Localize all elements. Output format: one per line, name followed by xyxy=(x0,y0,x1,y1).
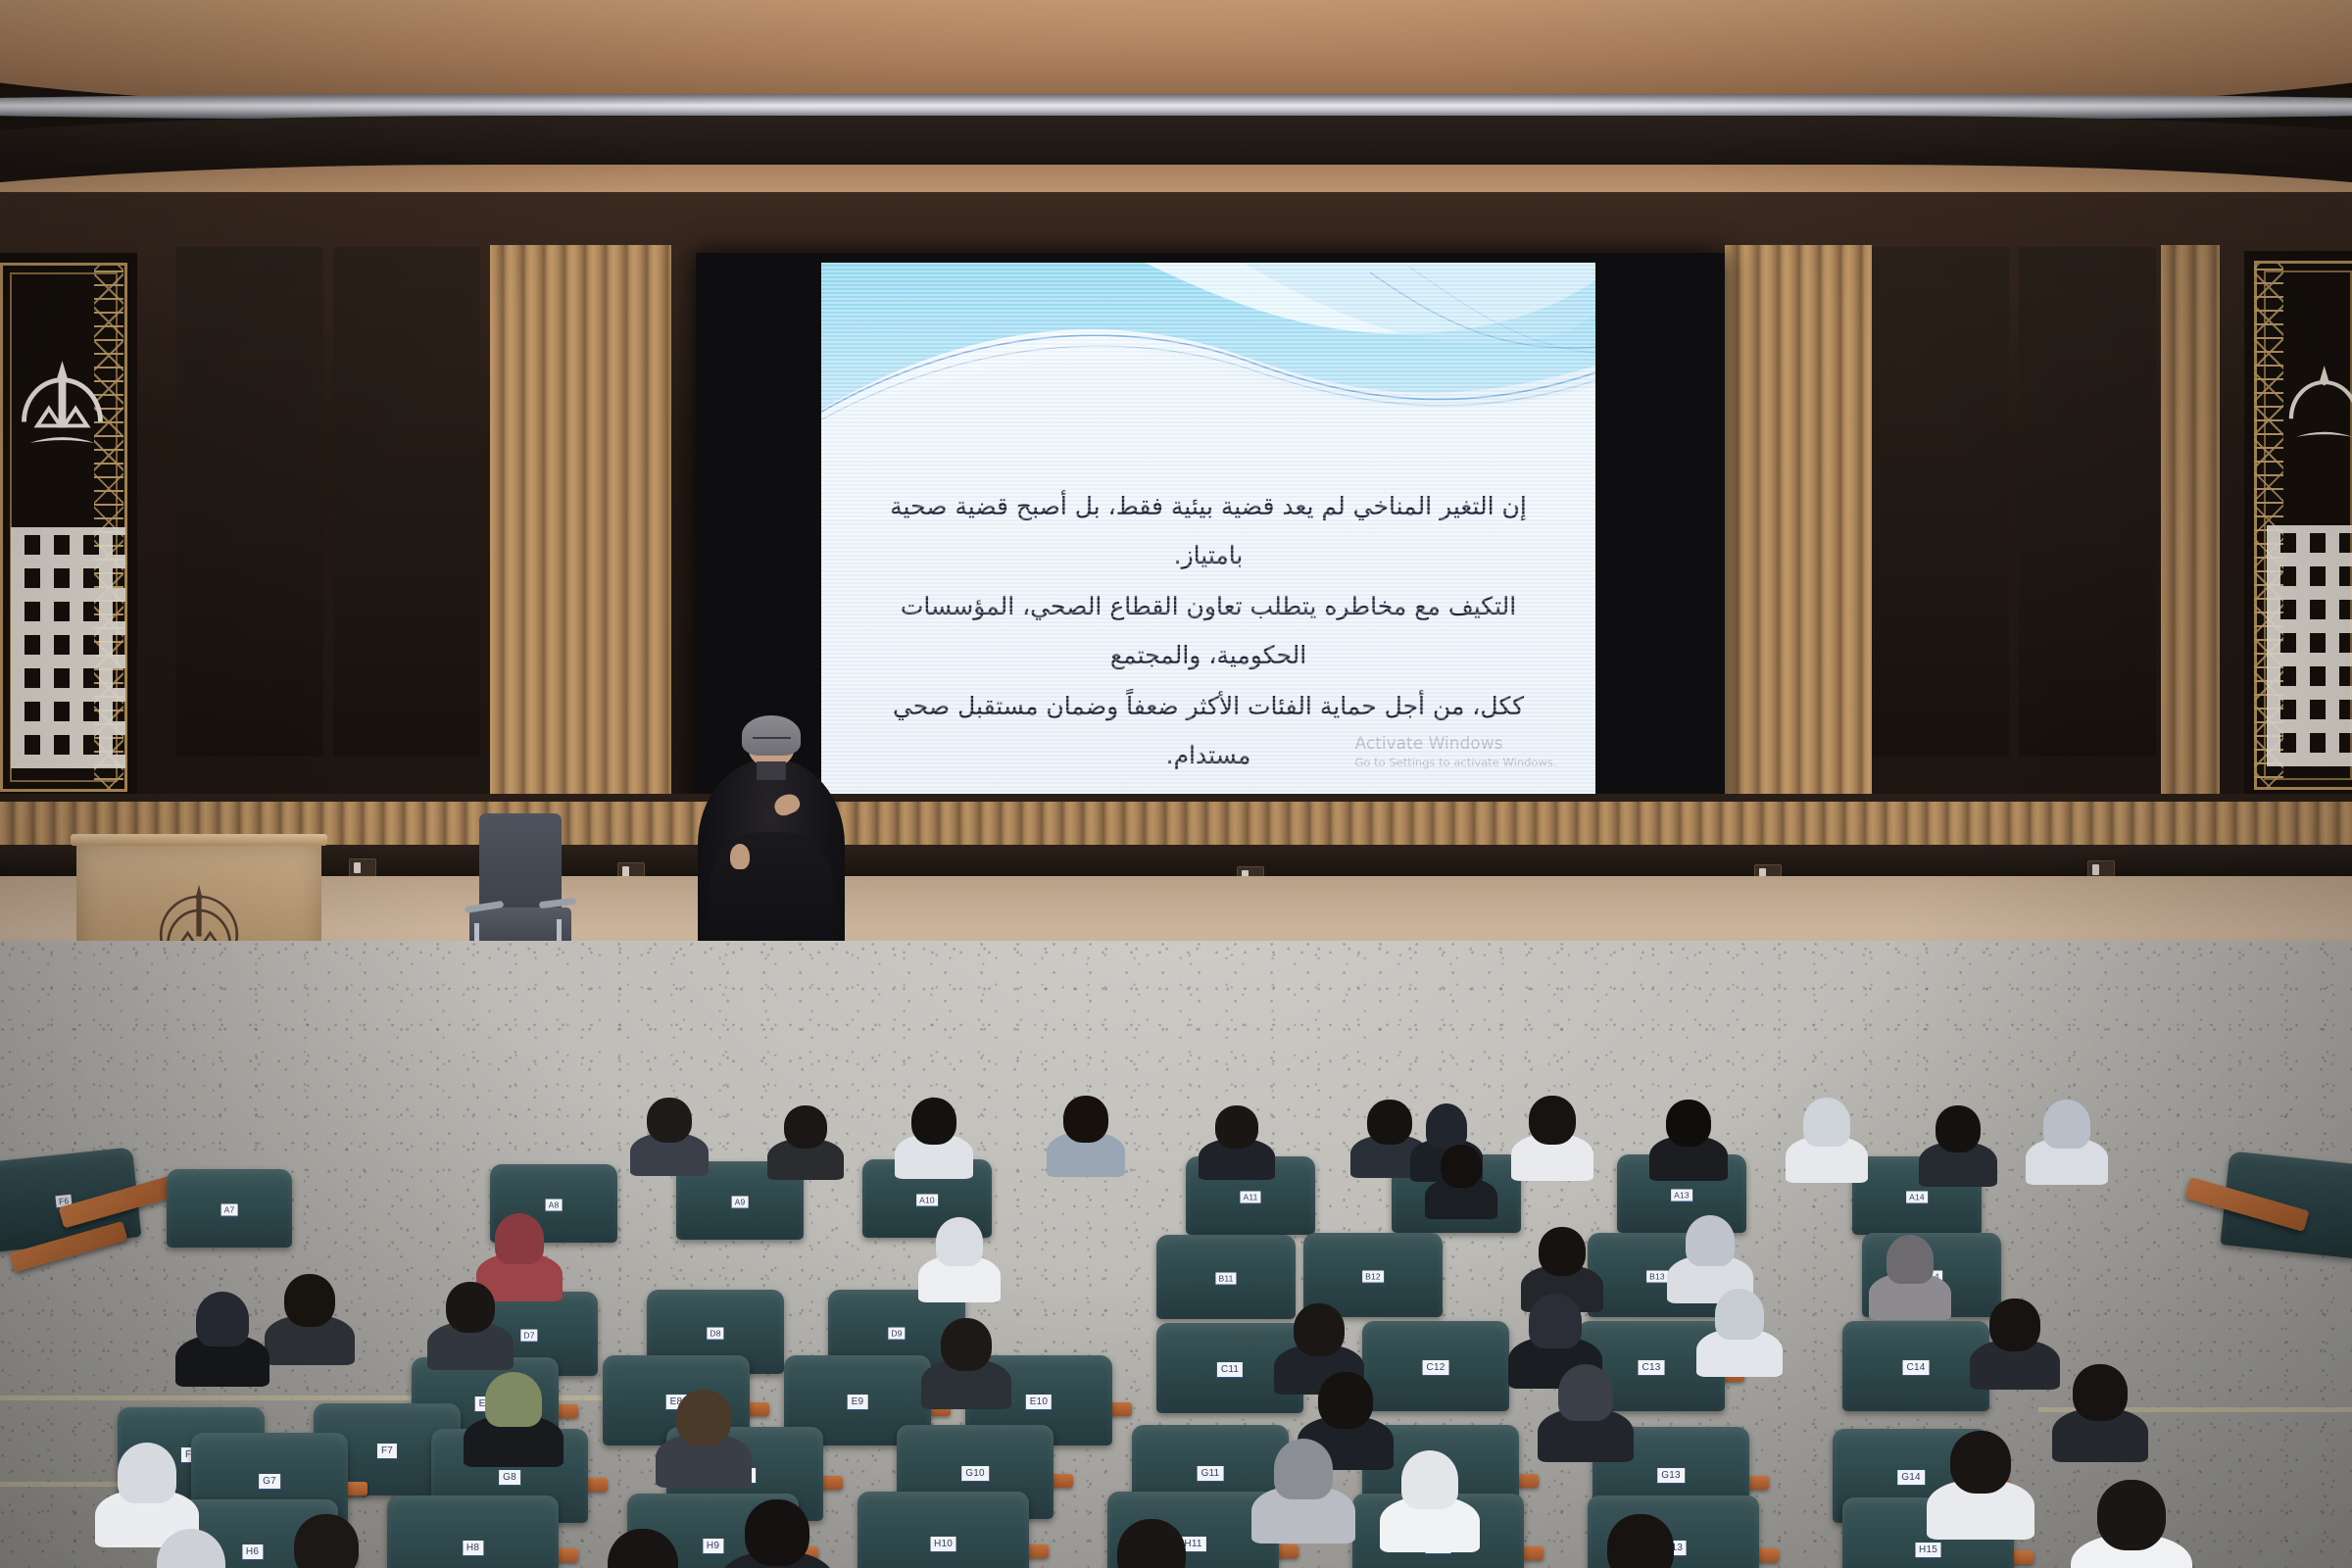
wall-panel-dark-left-a xyxy=(176,247,323,757)
audience-member xyxy=(294,1514,359,1568)
speaker-hijab xyxy=(742,715,801,756)
kufic-calligraphy-left xyxy=(11,527,125,768)
audience-member xyxy=(118,1443,176,1503)
kufic-calligraphy-right xyxy=(2267,525,2352,766)
audience-member-hijab xyxy=(157,1529,225,1568)
seat-tag: E9 xyxy=(848,1395,868,1410)
audience-member-hijab xyxy=(1558,1364,1613,1421)
watermark-subtitle: Go to Settings to activate Windows. xyxy=(1355,756,1557,770)
audience-member xyxy=(1274,1439,1333,1499)
audience-member-hijab xyxy=(1426,1103,1467,1149)
wall-socket-1[interactable] xyxy=(349,858,376,878)
audience-member-head xyxy=(676,1390,731,1446)
seat-tag: B13 xyxy=(1646,1270,1668,1283)
audience-member-head xyxy=(911,1098,956,1145)
ceiling xyxy=(0,0,2352,196)
speaker-hand-lower xyxy=(730,844,750,869)
seat-tag: A11 xyxy=(1240,1191,1260,1203)
seat-tag: F7 xyxy=(377,1444,397,1459)
audience-member xyxy=(1803,1098,1850,1147)
audience-member-hijab xyxy=(495,1213,544,1264)
seat-tag: A9 xyxy=(732,1196,749,1208)
audience-member-head xyxy=(745,1499,809,1566)
audience-member xyxy=(2097,1480,2166,1550)
audience-member-head xyxy=(1294,1303,1345,1356)
audience-member-hijab xyxy=(1529,1294,1582,1348)
seat-backrest xyxy=(387,1495,559,1568)
seat-tag: G11 xyxy=(1198,1466,1224,1482)
audience-member xyxy=(1607,1514,1674,1568)
seat-tag: C13 xyxy=(1639,1360,1665,1376)
ceiling-wood-band-1 xyxy=(0,0,2352,108)
audience-member-hijab xyxy=(1686,1215,1735,1266)
wall-panel-dark-left-b xyxy=(333,247,480,757)
slide-wave-graphic xyxy=(821,263,1595,449)
audience-member-head xyxy=(1539,1227,1586,1276)
audience-member-hijab xyxy=(196,1292,249,1347)
audience-member-cap xyxy=(485,1372,542,1427)
audience-member-head xyxy=(1367,1100,1412,1145)
audience-member xyxy=(745,1499,809,1566)
seat-tag: D9 xyxy=(888,1327,905,1340)
audience-member xyxy=(936,1217,983,1266)
audience-member-hijab xyxy=(1803,1098,1850,1147)
seat-tag: G10 xyxy=(961,1466,989,1482)
projection-screen: إن التغير المناخي لم يعد قضية بيئية فقط،… xyxy=(696,253,1725,817)
slide-line-2: التكيف مع مخاطره يتطلب تعاون القطاع الصح… xyxy=(875,582,1541,680)
audience-member xyxy=(1686,1215,1735,1266)
audience-member xyxy=(1367,1100,1412,1145)
seat-tag: H6 xyxy=(242,1544,263,1560)
audience-member-head xyxy=(1989,1298,2040,1351)
seat-tag: G13 xyxy=(1657,1468,1685,1484)
seat-tag: G14 xyxy=(1897,1470,1925,1486)
seat-tag: G7 xyxy=(259,1474,280,1490)
audience-member xyxy=(941,1318,992,1371)
watermark-title: Activate Windows xyxy=(1355,735,1557,755)
seat-C14[interactable]: C14 xyxy=(1842,1321,1989,1411)
audience-member-hijab xyxy=(1274,1439,1333,1499)
audience-member-head xyxy=(1117,1519,1186,1568)
audience-member-head xyxy=(941,1318,992,1371)
audience-member xyxy=(284,1274,335,1327)
wall-calligraphy-panel-left xyxy=(0,253,137,802)
audience-member xyxy=(157,1529,225,1568)
audience-member xyxy=(1558,1364,1613,1421)
audience-member-head xyxy=(2073,1364,2128,1421)
audience-member-hijab xyxy=(936,1217,983,1266)
audience-member xyxy=(485,1372,542,1427)
audience-member xyxy=(1117,1519,1186,1568)
audience-member-head xyxy=(1607,1514,1674,1568)
windows-activation-watermark: Activate Windows Go to Settings to activ… xyxy=(1355,735,1557,770)
seat-tag: E10 xyxy=(1026,1395,1052,1410)
audience-member-head xyxy=(1318,1372,1373,1429)
audience-member-head xyxy=(1441,1145,1482,1188)
seat-H8[interactable]: H8 xyxy=(387,1495,559,1568)
audience-member xyxy=(1426,1103,1467,1149)
audience-member xyxy=(1989,1298,2040,1351)
audience-member-head xyxy=(284,1274,335,1327)
audience-member-head xyxy=(608,1529,678,1568)
seat-tag: C11 xyxy=(1217,1362,1243,1378)
audience-member xyxy=(1666,1100,1711,1147)
seat-tag: B11 xyxy=(1215,1272,1236,1285)
audience-member-head xyxy=(647,1098,692,1143)
seat-tag: D8 xyxy=(707,1327,723,1340)
seat-H10[interactable]: H10 xyxy=(857,1492,1029,1568)
screen-bezel: إن التغير المناخي لم يعد قضية بيئية فقط،… xyxy=(696,253,1725,817)
audience-member-head xyxy=(1529,1096,1576,1145)
audience-member xyxy=(1063,1096,1108,1143)
university-emblem-left xyxy=(5,286,120,539)
audience-member-hijab xyxy=(1715,1289,1764,1340)
seat-tag: H9 xyxy=(703,1539,723,1554)
speaker-neck xyxy=(757,761,786,780)
audience-member-head xyxy=(1215,1105,1258,1149)
audience-member xyxy=(911,1098,956,1145)
audience-member xyxy=(784,1105,827,1149)
seat-B11[interactable]: B11 xyxy=(1156,1235,1296,1319)
university-emblem-right xyxy=(2275,284,2352,537)
wood-slat-column-right xyxy=(1725,245,1872,794)
audience-member-head xyxy=(294,1514,359,1568)
slide-line-1: إن التغير المناخي لم يعد قضية بيئية فقط،… xyxy=(875,482,1541,580)
audience-member-hijab xyxy=(1401,1450,1458,1509)
audience-member-head xyxy=(1666,1100,1711,1147)
seat-A7[interactable]: A7 xyxy=(167,1169,292,1248)
audience-member xyxy=(1441,1145,1482,1188)
seat-tag: A7 xyxy=(221,1203,238,1216)
wall-calligraphy-panel-right xyxy=(2244,251,2352,800)
seat-tag: H15 xyxy=(1915,1543,1941,1558)
presentation-slide: إن التغير المناخي لم يعد قضية بيئية فقط،… xyxy=(821,263,1595,811)
auditorium-photo: إن التغير المناخي لم يعد قضية بيئية فقط،… xyxy=(0,0,2352,1568)
audience-member xyxy=(1539,1227,1586,1276)
audience-member-head xyxy=(2097,1480,2166,1550)
wall-panel-dark-right-a xyxy=(1862,247,2009,757)
audience-member-head xyxy=(1063,1096,1108,1143)
audience-member xyxy=(1529,1294,1582,1348)
audience-member xyxy=(1529,1096,1576,1145)
audience-member-head xyxy=(1950,1431,2011,1494)
podium-top-surface xyxy=(71,834,327,846)
audience-member-head xyxy=(446,1282,495,1333)
audience-member xyxy=(1294,1303,1345,1356)
audience-member xyxy=(2073,1364,2128,1421)
audience-member xyxy=(647,1098,692,1143)
seat-tag: D7 xyxy=(520,1329,537,1342)
audience-member-hijab xyxy=(118,1443,176,1503)
seat-tag: B12 xyxy=(1362,1270,1384,1283)
seat-tag: C14 xyxy=(1903,1360,1930,1376)
audience-member xyxy=(608,1529,678,1568)
audience-member xyxy=(446,1282,495,1333)
audience-member xyxy=(1886,1235,1934,1284)
seat-tag: A8 xyxy=(546,1199,563,1211)
wood-slat-column-left xyxy=(490,245,671,794)
wood-slat-column-far-right xyxy=(2161,245,2220,794)
audience-member-hijab xyxy=(1886,1235,1934,1284)
seat-tag: H8 xyxy=(463,1541,483,1556)
speaker-glasses xyxy=(753,737,791,746)
seat-tag: G8 xyxy=(499,1470,520,1486)
audience-member-head xyxy=(784,1105,827,1149)
audience-member xyxy=(1950,1431,2011,1494)
audience-member xyxy=(1401,1450,1458,1509)
audience-member xyxy=(495,1213,544,1264)
seat-tag: A14 xyxy=(1906,1191,1928,1203)
seat-backrest xyxy=(857,1492,1029,1568)
audience-member xyxy=(1935,1105,1981,1152)
audience-member-head xyxy=(1935,1105,1981,1152)
seat-tag: A10 xyxy=(916,1194,938,1206)
audience-member-hijab xyxy=(2043,1100,2090,1149)
audience-member xyxy=(1215,1105,1258,1149)
audience-member xyxy=(196,1292,249,1347)
audience-member xyxy=(1715,1289,1764,1340)
wall-panel-dark-right-b xyxy=(2019,247,2156,757)
seat-tag: H10 xyxy=(930,1537,956,1552)
audience-member xyxy=(676,1390,731,1446)
seat-tag: A13 xyxy=(1671,1189,1692,1201)
audience-member xyxy=(1318,1372,1373,1429)
seat-tag: C12 xyxy=(1423,1360,1449,1376)
seat-C12[interactable]: C12 xyxy=(1362,1321,1509,1411)
audience-member xyxy=(2043,1100,2090,1149)
